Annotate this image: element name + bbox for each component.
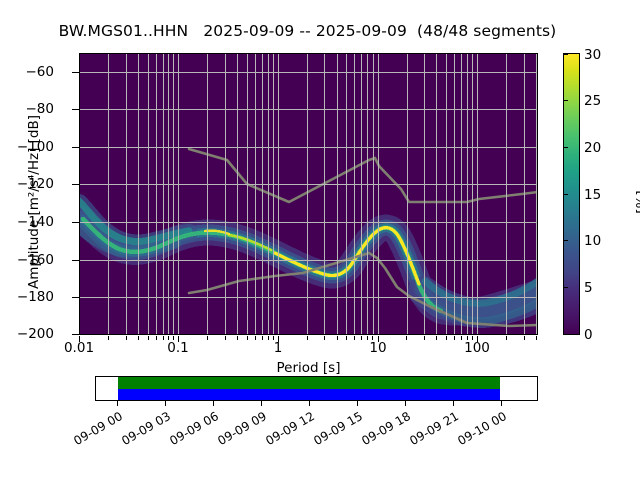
gridline-v [225, 53, 226, 335]
y-tick-mark [72, 72, 79, 73]
axis-spine-top [79, 53, 538, 54]
x-tick-label: 1 [274, 340, 283, 356]
x-minor-tick [156, 336, 157, 340]
gridline-v [361, 53, 362, 335]
gridline-v [477, 53, 478, 335]
x-minor-tick [108, 336, 109, 340]
x-minor-tick [372, 336, 373, 340]
x-minor-tick [225, 336, 226, 340]
x-minor-tick [237, 336, 238, 340]
gridline-v [307, 53, 308, 335]
timeline-tick-mark [453, 401, 454, 406]
ppsd-figure: BW.MGS01..HHN 2025-09-09 -- 2025-09-09 (… [0, 0, 640, 480]
x-minor-tick [354, 336, 355, 340]
x-minor-tick [454, 336, 455, 340]
timeline-tick-mark [405, 401, 406, 406]
y-tick-mark [72, 334, 79, 335]
x-minor-tick [163, 336, 164, 340]
x-minor-tick [273, 336, 274, 340]
x-axis-label: Period [s] [79, 360, 538, 376]
gridline-v [337, 53, 338, 335]
gridline-v [237, 53, 238, 335]
gridline-v [524, 53, 525, 335]
gridline-v [467, 53, 468, 335]
x-minor-tick [346, 336, 347, 340]
gridline-v [278, 53, 279, 335]
timeline-tick-mark [213, 401, 214, 406]
timeline-tick-mark [165, 401, 166, 406]
x-minor-tick [247, 336, 248, 340]
x-minor-tick [268, 336, 269, 340]
x-minor-tick [467, 336, 468, 340]
y-tick-mark [72, 147, 79, 148]
x-minor-tick [446, 336, 447, 340]
x-minor-tick [524, 336, 525, 340]
x-minor-tick [307, 336, 308, 340]
timeline-tick-mark [357, 401, 358, 406]
gridline-v [324, 53, 325, 335]
colorbar-tick-label: 10 [584, 233, 601, 249]
nhnm-curve [189, 149, 538, 202]
gridline-v [436, 53, 437, 335]
colorbar-tick-mark [563, 147, 568, 148]
gridline-v [354, 53, 355, 335]
axis-spine-left [79, 53, 80, 335]
gridline-v [163, 53, 164, 335]
gridline-v [178, 53, 179, 335]
colorbar-label: [%] [634, 142, 640, 262]
page-title: BW.MGS01..HHN 2025-09-09 -- 2025-09-09 (… [0, 22, 615, 40]
gridline-v [268, 53, 269, 335]
x-minor-tick [168, 336, 169, 340]
gridline-v [446, 53, 447, 335]
x-minor-tick [324, 336, 325, 340]
y-tick-mark [72, 297, 79, 298]
x-minor-tick [207, 336, 208, 340]
x-minor-tick [472, 336, 473, 340]
colorbar-tick-label: 20 [584, 140, 601, 156]
x-minor-tick [262, 336, 263, 340]
gridline-v [148, 53, 149, 335]
x-tick-label: 0.1 [167, 340, 188, 356]
x-minor-tick [506, 336, 507, 340]
gridline-v [472, 53, 473, 335]
colorbar-tick-mark [563, 334, 568, 335]
gridline-v [424, 53, 425, 335]
y-tick-mark [72, 222, 79, 223]
colorbar-tick-mark [563, 240, 568, 241]
axis-spine-bottom [79, 334, 538, 335]
colorbar-tick-label: 5 [584, 280, 593, 296]
gridline-v [138, 53, 139, 335]
gridline-v [273, 53, 274, 335]
gridline-v [454, 53, 455, 335]
colorbar-tick-mark [563, 100, 568, 101]
gridline-v [506, 53, 507, 335]
colorbar-tick-label: 0 [584, 327, 593, 343]
x-minor-tick [148, 336, 149, 340]
axis-spine-right [537, 53, 538, 335]
y-tick-mark [72, 184, 79, 185]
x-minor-tick [255, 336, 256, 340]
gridline-v [173, 53, 174, 335]
x-minor-tick [436, 336, 437, 340]
gridline-v [156, 53, 157, 335]
colorbar-tick-label: 25 [584, 93, 601, 109]
gridline-v [126, 53, 127, 335]
gridline-v [247, 53, 248, 335]
gridline-v [461, 53, 462, 335]
y-tick-mark [72, 109, 79, 110]
colorbar-tick-mark [563, 194, 568, 195]
x-minor-tick [406, 336, 407, 340]
gridline-v [346, 53, 347, 335]
x-tick-label: 10 [369, 340, 386, 356]
timeline-tick-mark [117, 401, 118, 406]
x-minor-tick [536, 336, 537, 340]
colorbar-tick-label: 30 [584, 47, 601, 63]
coverage-bar-green [118, 377, 500, 389]
y-tick-mark [72, 260, 79, 261]
x-minor-tick [461, 336, 462, 340]
colorbar-tick-mark [563, 54, 568, 55]
y-axis-label: Amplitude [m²/s⁴/Hz] [dB] [26, 62, 42, 342]
x-minor-tick [126, 336, 127, 340]
gridline-v [108, 53, 109, 335]
gridline-v [373, 53, 374, 335]
timeline-tick-mark [261, 401, 262, 406]
timeline-tick-mark [501, 401, 502, 406]
x-minor-tick [367, 336, 368, 340]
x-minor-tick [138, 336, 139, 340]
x-minor-tick [173, 336, 174, 340]
gridline-v [168, 53, 169, 335]
x-minor-tick [337, 336, 338, 340]
x-minor-tick [361, 336, 362, 340]
x-tick-label: 0.01 [64, 340, 94, 356]
colorbar-tick-label: 15 [584, 187, 601, 203]
nlnm-curve [189, 253, 538, 326]
gridline-v [207, 53, 208, 335]
gridline-v [367, 53, 368, 335]
gridline-v [255, 53, 256, 335]
gridline-v [378, 53, 379, 335]
gridline-v [407, 53, 408, 335]
psd-plot-area[interactable] [79, 53, 538, 335]
x-tick-label: 100 [464, 340, 490, 356]
timeline-tick-mark [309, 401, 310, 406]
coverage-bar-blue [118, 389, 500, 401]
gridline-v [262, 53, 263, 335]
data-coverage-timeline[interactable] [95, 376, 538, 401]
colorbar-tick-mark [563, 287, 568, 288]
x-minor-tick [424, 336, 425, 340]
